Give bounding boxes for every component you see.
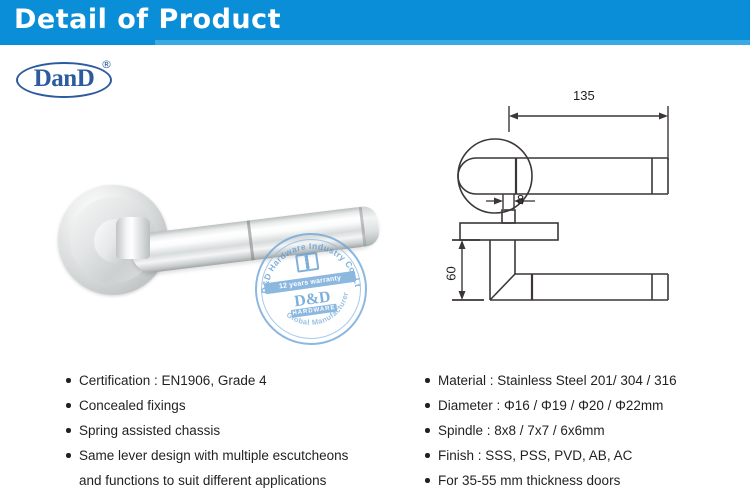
- bullet-icon: [66, 428, 71, 433]
- list-item: Spring assisted chassis: [66, 418, 406, 443]
- page-title: Detail of Product: [14, 4, 281, 36]
- specs-left-column: Certification : EN1906, Grade 4 Conceale…: [66, 368, 406, 493]
- list-item-text: Spindle : 8x8 / 7x7 / 6x6mm: [438, 423, 605, 438]
- technical-drawings: 135 8 60: [440, 88, 750, 333]
- dimension-label-8: 8: [517, 192, 524, 207]
- bullet-icon: [66, 378, 71, 383]
- list-item: Spindle : 8x8 / 7x7 / 6x6mm: [425, 418, 745, 443]
- bullet-icon: [425, 378, 430, 383]
- bullet-icon: [425, 403, 430, 408]
- lever-neck: [116, 217, 150, 259]
- list-item-text: Finish : SSS, PSS, PVD, AB, AC: [438, 448, 632, 463]
- list-item-text: Same lever design with multiple escutche…: [79, 448, 348, 463]
- dimension-label-135: 135: [573, 88, 595, 103]
- banner-underline-fade: [155, 40, 750, 45]
- logo-wordmark: DanD: [16, 62, 112, 98]
- registered-trademark-icon: ®: [101, 58, 112, 71]
- drawing-linework: [440, 88, 750, 333]
- list-item-text: Diameter : Φ16 / Φ19 / Φ20 / Φ22mm: [438, 398, 663, 413]
- watermark-stamp: D&D Hardware Industry Co.,Ltd Global Man…: [248, 226, 374, 352]
- list-item: Same lever design with multiple escutche…: [66, 443, 406, 468]
- list-item: Diameter : Φ16 / Φ19 / Φ20 / Φ22mm: [425, 393, 745, 418]
- bullet-icon: [66, 453, 71, 458]
- list-item-continuation: and functions to suit different applicat…: [66, 468, 406, 493]
- list-item-text: Certification : EN1906, Grade 4: [79, 373, 267, 388]
- list-item-text: Material : Stainless Steel 201/ 304 / 31…: [438, 373, 677, 388]
- list-item: Material : Stainless Steel 201/ 304 / 31…: [425, 368, 745, 393]
- list-item: Concealed fixings: [66, 393, 406, 418]
- list-item-text: Concealed fixings: [79, 398, 186, 413]
- list-item-text: Spring assisted chassis: [79, 423, 220, 438]
- specs-right-column: Material : Stainless Steel 201/ 304 / 31…: [425, 368, 745, 493]
- bullet-icon: [66, 403, 71, 408]
- brand-logo: DanD ®: [16, 58, 124, 100]
- watermark-logo-icon: [295, 252, 319, 273]
- list-item-text: For 35-55 mm thickness doors: [438, 473, 620, 488]
- bullet-icon: [425, 453, 430, 458]
- bullet-icon: [425, 478, 430, 483]
- list-item: For 35-55 mm thickness doors: [425, 468, 745, 493]
- dimension-label-60: 60: [444, 264, 459, 284]
- header-banner: Detail of Product: [0, 0, 750, 40]
- bullet-icon: [425, 428, 430, 433]
- list-item: Finish : SSS, PSS, PVD, AB, AC: [425, 443, 745, 468]
- list-item: Certification : EN1906, Grade 4: [66, 368, 406, 393]
